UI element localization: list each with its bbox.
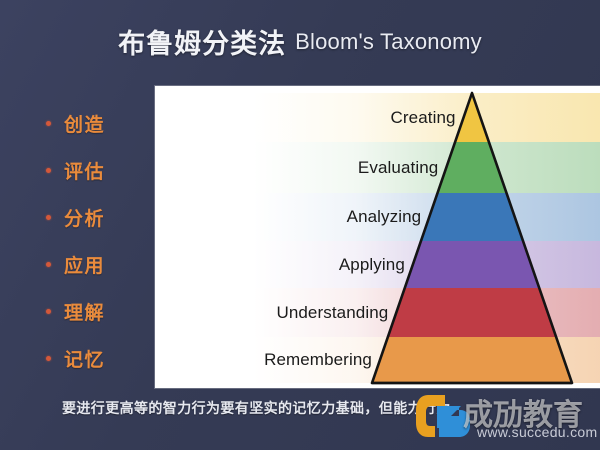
list-item-label: 创造 <box>64 110 105 137</box>
pyramid-band-label: Evaluating <box>358 158 438 178</box>
slide-caption: 要进行更高等的智力行为要有坚实的记忆力基础，但能力行为 <box>62 398 451 418</box>
list-item: 创造 <box>46 100 150 147</box>
pyramid-band-understanding: Understanding <box>155 288 600 337</box>
pyramid-band-evaluating: Evaluating <box>155 142 600 193</box>
pyramid-band-label: Understanding <box>276 303 388 323</box>
pyramid-band-analyzing: Analyzing <box>155 193 600 241</box>
pyramid-band-creating: Creating <box>155 93 600 142</box>
pyramid-band-remembering: Remembering <box>155 337 600 383</box>
page-title: 布鲁姆分类法Bloom's Taxonomy <box>0 22 600 61</box>
pyramid-band-label: Applying <box>339 255 405 275</box>
list-item-label: 分析 <box>64 204 105 231</box>
pyramid-bands: Creating Evaluating Analyzing Applying U… <box>155 86 600 388</box>
pyramid-band-label: Remembering <box>264 350 372 370</box>
list-item: 记忆 <box>46 335 150 382</box>
list-item: 理解 <box>46 288 150 335</box>
list-item-label: 评估 <box>64 157 105 184</box>
bullet-icon <box>46 262 51 267</box>
list-item: 分析 <box>46 194 150 241</box>
bullet-icon <box>46 121 51 126</box>
title-chinese: 布鲁姆分类法 <box>118 29 286 59</box>
list-item: 应用 <box>46 241 150 288</box>
pyramid-band-label: Analyzing <box>347 207 422 227</box>
bullet-icon <box>46 215 51 220</box>
bullet-icon <box>46 309 51 314</box>
slide-canvas: 布鲁姆分类法Bloom's Taxonomy 创造 评估 分析 应用 理解 记忆 <box>0 0 600 450</box>
bullet-icon <box>46 356 51 361</box>
list-item-label: 应用 <box>64 251 105 278</box>
pyramid-band-applying: Applying <box>155 241 600 288</box>
bullet-icon <box>46 168 51 173</box>
list-item-label: 记忆 <box>64 345 105 372</box>
list-item: 评估 <box>46 147 150 194</box>
pyramid-band-label: Creating <box>391 108 456 128</box>
taxonomy-level-list: 创造 评估 分析 应用 理解 记忆 <box>46 100 150 382</box>
watermark: 成劢教育 www.succedu.com <box>415 388 600 448</box>
watermark-url: www.succedu.com <box>477 424 597 440</box>
pyramid-diagram-panel: Creating Evaluating Analyzing Applying U… <box>155 86 600 388</box>
list-item-label: 理解 <box>64 298 105 325</box>
title-english: Bloom's Taxonomy <box>295 29 482 54</box>
